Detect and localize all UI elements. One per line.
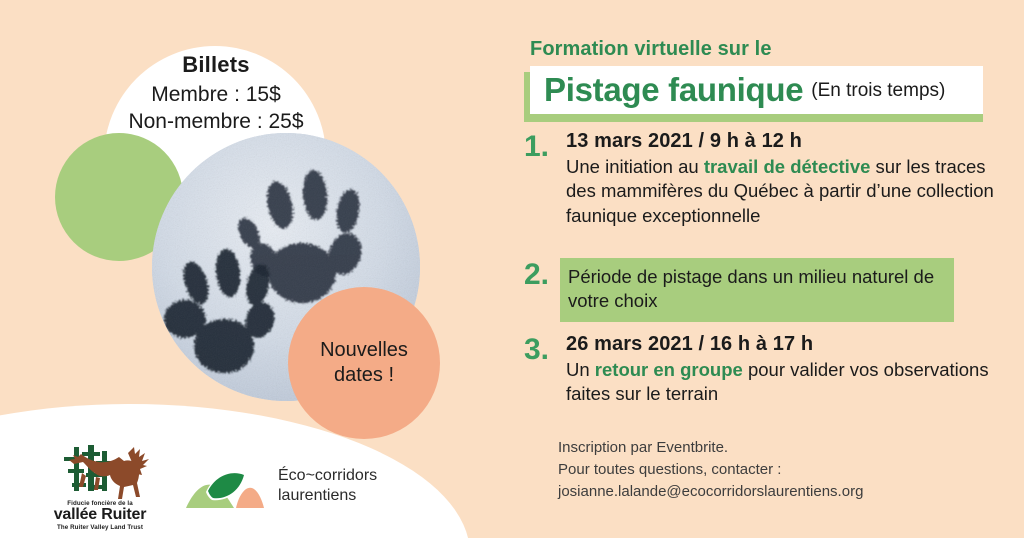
session-3-number: 3.	[524, 333, 560, 367]
session-3-desc-highlight: retour en groupe	[595, 359, 743, 380]
tickets-block: Billets Membre : 15$ Non-membre : 25$	[96, 52, 336, 136]
content-column: Formation virtuelle sur le Pistage fauni…	[516, 0, 1024, 538]
session-1-number: 1.	[524, 130, 560, 164]
tickets-title: Billets	[96, 52, 336, 78]
session-2-description: Période de pistage dans un milieu nature…	[560, 258, 954, 322]
session-1-description: Une initiation au travail de détective s…	[566, 155, 1018, 228]
session-1-desc-highlight: travail de détective	[704, 156, 871, 177]
footer-email[interactable]: josianne.lalande@ecocorridorslaurentiens…	[558, 481, 863, 503]
poster-canvas: Nouvelles dates ! Billets Membre : 15$ N…	[0, 0, 1024, 538]
badge-line-1: Nouvelles	[320, 338, 408, 363]
ruiter-subtitle-bottom: The Ruiter Valley Land Trust	[36, 524, 164, 531]
ecocorridors-line-1: Éco~corridors	[278, 466, 377, 486]
footer-registration-line: Inscription par Eventbrite.	[558, 437, 863, 459]
footer-contact: Inscription par Eventbrite. Pour toutes …	[558, 437, 863, 502]
session-3-desc-part1: Un	[566, 359, 595, 380]
badge-line-2: dates !	[320, 363, 408, 388]
ecocorridors-line-2: laurentiens	[278, 486, 377, 506]
hills-and-leaf-icon	[184, 458, 268, 514]
tickets-nonmember-price: Non-membre : 25$	[96, 108, 336, 135]
ruiter-name: vallée Ruiter	[36, 507, 164, 524]
session-3-description: Un retour en groupe pour valider vos obs…	[566, 358, 1018, 407]
tickets-member-price: Membre : 15$	[96, 81, 336, 108]
title-subtitle: (En trois temps)	[811, 80, 945, 102]
session-1-date: 13 mars 2021 / 9 h à 12 h	[566, 130, 1018, 153]
footer-questions-line: Pour toutes questions, contacter :	[558, 459, 863, 481]
session-item-1: 1. 13 mars 2021 / 9 h à 12 h Une initiat…	[524, 130, 1018, 228]
session-item-2: 2. Période de pistage dans un milieu nat…	[524, 258, 1018, 322]
deer-and-trees-icon	[36, 443, 164, 499]
logo-ecocorridors-laurentiens: Éco~corridors laurentiens	[184, 455, 404, 517]
page-title: Pistage faunique	[544, 71, 803, 109]
session-2-number: 2.	[524, 258, 560, 292]
title-box: Pistage faunique (En trois temps)	[530, 66, 983, 114]
new-dates-badge: Nouvelles dates !	[288, 287, 440, 439]
session-1-desc-part1: Une initiation au	[566, 156, 704, 177]
header-kicker: Formation virtuelle sur le	[530, 38, 772, 61]
session-3-date: 26 mars 2021 / 16 h à 17 h	[566, 333, 1018, 356]
session-item-3: 3. 26 mars 2021 / 16 h à 17 h Un retour …	[524, 333, 1018, 407]
logo-vallee-ruiter: Fiducie foncière de la vallée Ruiter The…	[36, 443, 164, 531]
